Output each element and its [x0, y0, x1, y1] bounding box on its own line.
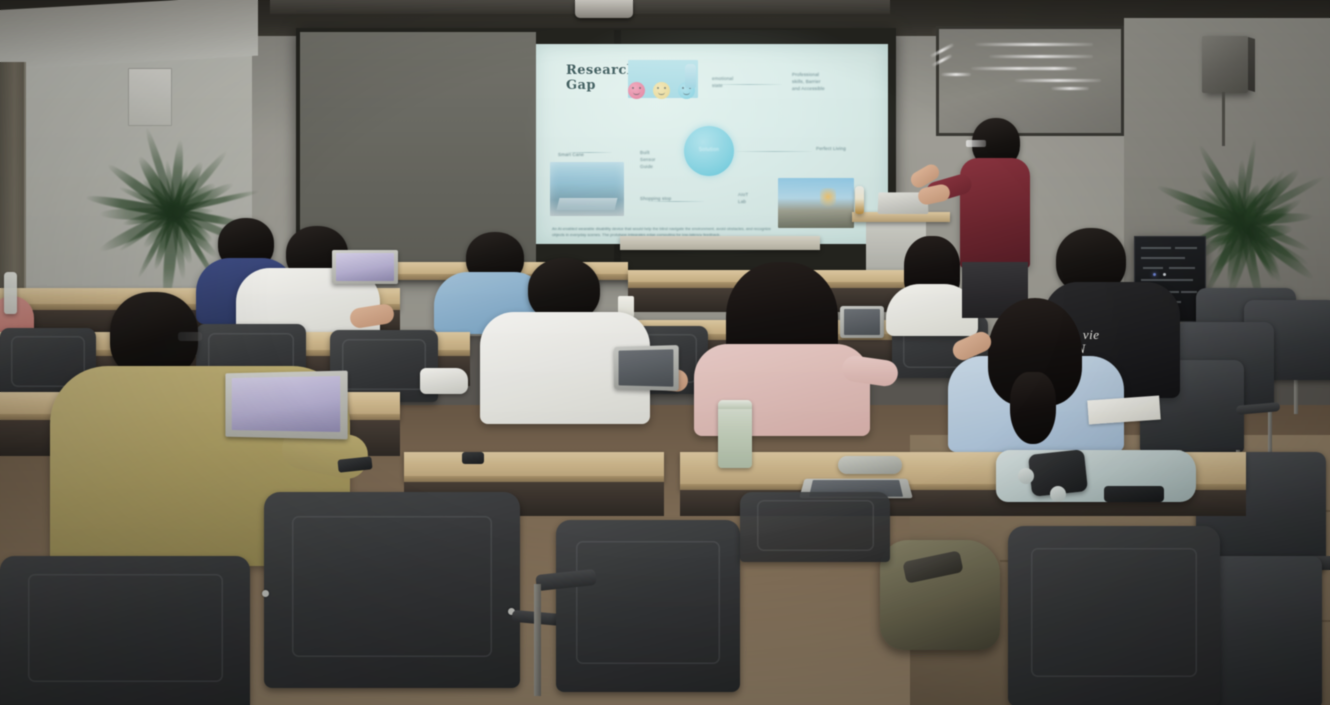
glasses-icon	[178, 332, 202, 341]
slide-title: Research Gap	[566, 64, 636, 94]
backpack-buckle	[1018, 468, 1034, 484]
backpack-buckle	[1050, 486, 1066, 502]
slide-image-outdoor	[778, 178, 854, 228]
rack-led-icon	[1163, 273, 1166, 276]
emoji-yellow-icon	[653, 82, 670, 99]
glasses-icon	[966, 140, 986, 147]
slide-label-shopping: Shopping stop	[640, 196, 686, 203]
projector-icon	[575, 0, 633, 18]
wall-panel	[128, 68, 172, 126]
sneaker	[420, 368, 468, 394]
presenter-torso	[960, 158, 1030, 268]
glass-glare	[975, 43, 1093, 46]
chair-foreground-right[interactable]	[1008, 526, 1220, 705]
slide-label-smart-cane: Smart Cane	[558, 152, 598, 159]
laptop-back-left[interactable]	[332, 250, 398, 284]
glass-glare	[1051, 87, 1089, 90]
slide-label-built-sensor: Built Sensor Guide	[640, 150, 670, 171]
glass-glare	[941, 73, 971, 76]
backpack-bottom-strap	[1104, 486, 1164, 502]
tablet-center[interactable]	[614, 345, 679, 391]
tablet-right[interactable]	[840, 306, 884, 338]
water-bottle-left[interactable]	[4, 272, 17, 314]
chair-hinge	[262, 590, 269, 597]
chair-mid-right[interactable]	[740, 492, 890, 562]
glass-partition	[936, 26, 1124, 136]
desk-front-center	[404, 452, 664, 482]
glasses-case[interactable]	[838, 456, 902, 474]
ponytail-tail	[1010, 372, 1056, 444]
glass-glare	[1031, 67, 1077, 70]
chair-foreground-left[interactable]	[264, 492, 520, 688]
slide-label-professional-skills: Professional skills, Barrier and Accessi…	[792, 72, 862, 93]
laptop-front-left[interactable]	[225, 371, 347, 440]
small-device-on-desk[interactable]	[462, 452, 484, 464]
slide-leader-line	[736, 151, 812, 152]
chair-foreground-far-left[interactable]	[0, 556, 250, 705]
thermos-lid	[718, 400, 752, 409]
glass-glare	[989, 55, 1093, 58]
glass-glare	[1015, 79, 1101, 82]
slide-label-perfect-living: Perfect Living	[816, 146, 882, 153]
speaker-icon	[1202, 36, 1248, 93]
desk-far-back	[620, 236, 820, 250]
emoji-pink-icon	[628, 82, 645, 99]
chair-foreground-center[interactable]	[556, 520, 740, 692]
slide-label-aiot-lab: AIoT Lab	[738, 192, 764, 206]
thermos-bottle[interactable]	[718, 400, 752, 468]
bottle-on-podium[interactable]	[855, 186, 864, 214]
classroom-photo: Research Gap Solution emotional state Pr…	[0, 0, 1330, 705]
slide-center-node: Solution	[684, 126, 734, 176]
slide-image-street	[550, 162, 624, 216]
papers-right[interactable]	[1087, 396, 1160, 425]
slide-bottle-graphic	[685, 64, 696, 88]
rack-led-icon	[1153, 273, 1156, 276]
slide-label-emotional-state: emotional state	[712, 76, 742, 90]
presentation-slide: Research Gap Solution emotional state Pr…	[536, 44, 888, 244]
chair-leg	[534, 584, 541, 696]
